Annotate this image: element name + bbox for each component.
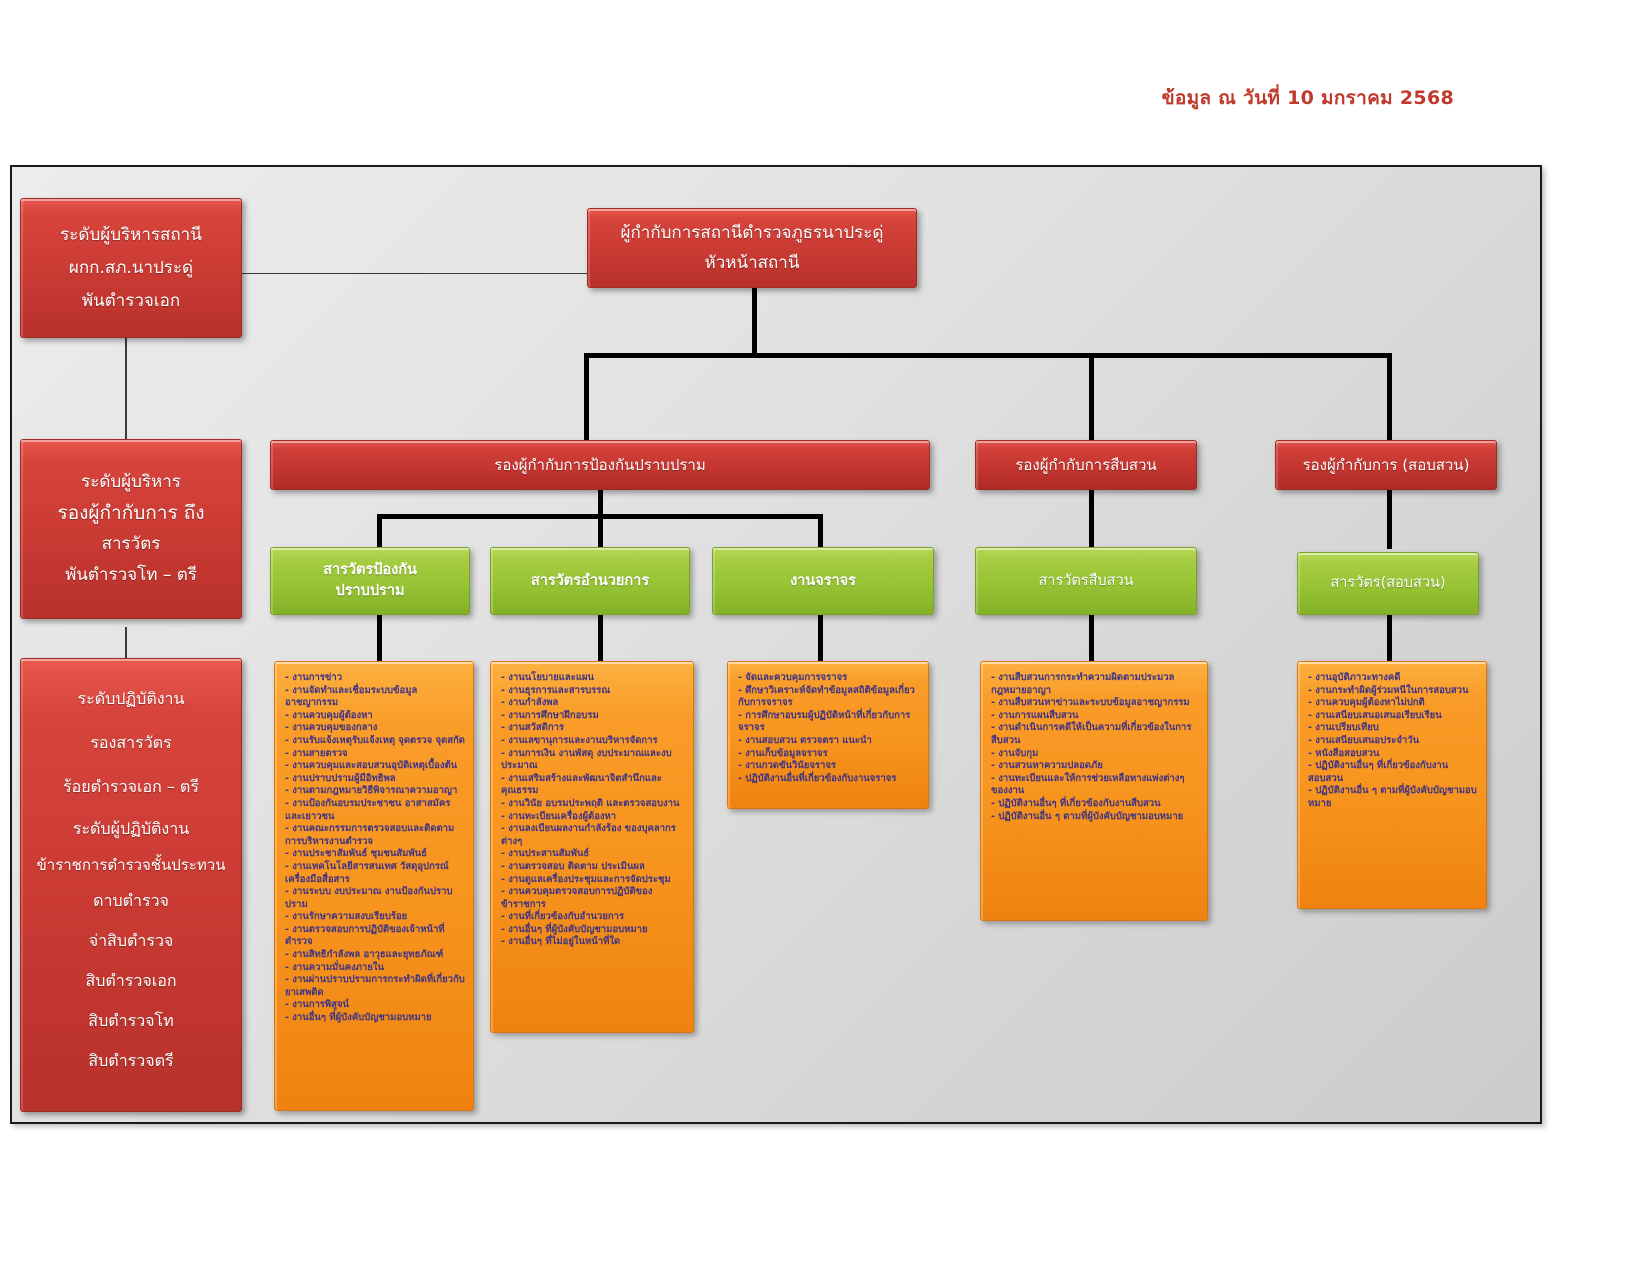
duty-item: - ศึกษาวิเคราะห์จัดทำข้อมูลสถิติข้อมูลเก… — [738, 685, 920, 710]
unit-label: งานจราจร — [713, 571, 933, 592]
duty-item: - งานสอบสวน ตรวจตรา แนะนำ — [738, 735, 920, 748]
duty-item: - งานธุรการและสารบรรณ — [501, 685, 685, 698]
duty-item: - การศึกษาอบรมผู้ปฏิบัติหน้าที่เกี่ยวกับ… — [738, 710, 920, 735]
duty-item: - งานสวัสดิการ — [501, 722, 685, 735]
duty-item: - งานควบคุมผู้ต้องหาไม่ปกติ — [1308, 697, 1478, 710]
level-line: ระดับผู้บริหาร — [21, 467, 241, 498]
level-line: สิบตำรวจตรี — [27, 1041, 235, 1081]
connector-investigation-down — [1089, 489, 1094, 549]
duty-item: - งานป้องกันอบรมประชาชน อาสาสมัครและเยาว… — [285, 798, 465, 823]
duty-item: - งานควบคุมของกลาง — [285, 722, 465, 735]
duty-item: - งานดำเนินการคดีให้เป็นความที่เกี่ยวข้อ… — [991, 722, 1199, 747]
level-line: สิบตำรวจโท — [27, 1001, 235, 1041]
connector-unit4-to-duties — [1089, 614, 1094, 662]
unit-box-traffic[interactable]: งานจราจร — [712, 547, 934, 615]
duty-box-admin[interactable]: - งานนโยบายและแผน- งานธุรการและสารบรรณ- … — [490, 661, 694, 1033]
station-chief-subtitle: หัวหน้าสถานี — [588, 248, 916, 278]
duty-item: - งานการข่าว — [285, 672, 465, 685]
connector-prevention-unit-2 — [598, 514, 603, 549]
station-chief-box[interactable]: ผู้กำกับการสถานีตำรวจภูธรนาประดู่ หัวหน้… — [587, 208, 917, 288]
duty-item: - งานการศึกษาฝึกอบรม — [501, 710, 685, 723]
duty-item: - งานปราบปรามผู้มีอิทธิพล — [285, 773, 465, 786]
connector-bus-to-deputy-2 — [1089, 353, 1094, 440]
level-line: สิบตำรวจเอก — [27, 961, 235, 1001]
duty-item: - งานอื่นๆ ที่ไม่อยู่ในหน้าที่ใด — [501, 936, 685, 949]
connector-prevention-unit-3 — [818, 514, 823, 549]
level-line: ดาบตำรวจ — [27, 881, 235, 921]
duty-item: - งานระบบ งบประมาณ งานป้องกันปราบปราม — [285, 886, 465, 911]
connector-unit5-to-duties — [1387, 614, 1392, 662]
connector-main-bus — [584, 353, 1392, 358]
level-line: สารวัตร — [21, 529, 241, 560]
duty-item: - งานกำลังพล — [501, 697, 685, 710]
duty-item: - งานควบคุมและสอบสวนอุบัติเหตุเบื้องต้น — [285, 760, 465, 773]
level-line: ร้อยตำรวจเอก – ตรี — [27, 765, 235, 809]
connector-unit1-to-duties — [377, 614, 382, 662]
duty-item: - จัดและควบคุมการจราจร — [738, 672, 920, 685]
duty-item: - งานนโยบายและแผน — [501, 672, 685, 685]
duty-item: - งานรับแจ้งเหตุรับแจ้งเหตุ จุดตรวจ จุดส… — [285, 735, 465, 748]
unit-label: สารวัตรสืบสวน — [976, 571, 1196, 592]
duty-item: - งานดูแลเครื่องประชุมและการจัดประชุม — [501, 874, 685, 887]
duty-item: - งานตามกฎหมายวิธีพิจารณาความอาญา — [285, 785, 465, 798]
deputy-label: รองผู้กำกับการป้องกันปราบปราม — [271, 455, 929, 475]
duty-item: - งานสายตรวจ — [285, 748, 465, 761]
duty-item: - งานจัดทำและเชื่อมระบบข้อมูลอาชญากรรม — [285, 685, 465, 710]
connector-unit2-to-duties — [598, 614, 603, 662]
level-line: ระดับผู้ปฏิบัติงาน — [27, 809, 235, 849]
duty-box-prevention[interactable]: - งานการข่าว- งานจัดทำและเชื่อมระบบข้อมู… — [274, 661, 474, 1111]
duty-item: - งานประสานสัมพันธ์ — [501, 848, 685, 861]
duty-item: - งานสืบสวนหาข่าวและระบบข้อมูลอาชญากรรม — [991, 697, 1199, 710]
duty-item: - งานเสนียบเสนอเสนอเรียบเรียน — [1308, 710, 1478, 723]
deputy-box-investigation[interactable]: รองผู้กำกับการสืบสวน — [975, 440, 1197, 490]
level-line: ระดับผู้บริหารสถานี — [21, 219, 241, 252]
duty-item: - งานอื่นๆ ที่ผู้บังคับบัญชามอบหมาย — [285, 1012, 465, 1025]
duty-item: - งานตรวจสอบ ติดตาม ประเมินผล — [501, 861, 685, 874]
duty-item: - งานควบคุมผู้ต้องหา — [285, 710, 465, 723]
duty-item: - ปฏิบัติงานอื่น ๆ ตามที่ผู้บังคับบัญชาม… — [1308, 785, 1478, 810]
duty-item: - งานกระทำผิดผู้ร่วมหนีในการสอบสวน — [1308, 685, 1478, 698]
level-box-operational[interactable]: ระดับปฏิบัติงาน รองสารวัตร ร้อยตำรวจเอก … — [20, 658, 242, 1112]
connector-head-down — [752, 285, 757, 353]
level-line: ข้าราชการตำรวจชั้นประทวน — [27, 849, 235, 881]
duty-item: - งานที่เกี่ยวข้องกับอำนวยการ — [501, 911, 685, 924]
duty-item: - งานเสนียบเสนอประจำวัน — [1308, 735, 1478, 748]
duty-item: - งานความมั่นคงภายใน — [285, 962, 465, 975]
connector-inquiry-down — [1387, 489, 1392, 549]
duty-item: - งานประชาสัมพันธ์ ชุมชนสัมพันธ์ — [285, 848, 465, 861]
deputy-label: รองผู้กำกับการสืบสวน — [976, 455, 1196, 475]
data-as-of-date: ข้อมูล ณ วันที่ 10 มกราคม 2568 — [1162, 83, 1454, 113]
deputy-box-prevention[interactable]: รองผู้กำกับการป้องกันปราบปราม — [270, 440, 930, 490]
unit-label: สารวัตรป้องกัน — [271, 560, 469, 581]
duty-item: - งานสวนหาความปลอดภัย — [991, 760, 1199, 773]
deputy-label: รองผู้กำกับการ (สอบสวน) — [1276, 455, 1496, 475]
duty-item: - ปฏิบัติงานอื่นๆ ที่เกี่ยวข้องกับงานสืบ… — [991, 798, 1199, 811]
duty-box-inquiry[interactable]: - งานอุบัติภาวะทางคดี- งานกระทำผิดผู้ร่ว… — [1297, 661, 1487, 909]
unit-box-prevention[interactable]: สารวัตรป้องกัน ปราบปราม — [270, 547, 470, 615]
duty-item: - งานการแผนสืบสวน — [991, 710, 1199, 723]
deputy-box-inquiry[interactable]: รองผู้กำกับการ (สอบสวน) — [1275, 440, 1497, 490]
connector-prevention-unit-1 — [377, 514, 382, 549]
duty-item: - งานวินัย อบรมประพฤติ และตรวจสอบงาน — [501, 798, 685, 811]
unit-label: สารวัตรอำนวยการ — [491, 571, 689, 592]
level-line: ระดับปฏิบัติงาน — [27, 677, 235, 721]
duty-item: - งานอื่นๆ ที่ผู้บังคับบัญชามอบหมาย — [501, 924, 685, 937]
duty-item: - งานลงเบียนผลงานกำลังร้อง ของบุคลากรต่า… — [501, 823, 685, 848]
unit-box-admin[interactable]: สารวัตรอำนวยการ — [490, 547, 690, 615]
duty-item: - งานเก็บข้อมูลจราจร — [738, 748, 920, 761]
connector-unit3-to-duties — [818, 614, 823, 662]
duty-item: - งานเลขานุการและงานบริหารจัดการ — [501, 735, 685, 748]
duty-box-traffic[interactable]: - จัดและควบคุมการจราจร- ศึกษาวิเคราะห์จั… — [727, 661, 929, 809]
level-line: พันตำรวจโท – ตรี — [21, 560, 241, 591]
level-line: พันตำรวจเอก — [21, 285, 241, 318]
level-line: รองผู้กำกับการ ถึง — [21, 498, 241, 529]
level-box-executive-station[interactable]: ระดับผู้บริหารสถานี ผกก.สภ.นาประดู่ พันต… — [20, 198, 242, 338]
duty-item: - ปฏิบัติงานอื่นๆ ที่เกี่ยวข้องกับงานสอบ… — [1308, 760, 1478, 785]
duty-item: - งานสิทธิกำลังพล อาวุธและยุทธภัณฑ์ — [285, 949, 465, 962]
station-chief-title: ผู้กำกับการสถานีตำรวจภูธรนาประดู่ — [588, 218, 916, 248]
duty-item: - งานควบคุมตรวจสอบการปฏิบัติของข้าราชการ — [501, 886, 685, 911]
unit-box-investigation[interactable]: สารวัตรสืบสวน — [975, 547, 1197, 615]
duty-item: - งานตรวจสอบการปฏิบัติของเจ้าหน้าที่ตำรว… — [285, 924, 465, 949]
duty-item: - งานรักษาความสงบเรียบร้อย — [285, 911, 465, 924]
duty-item: - งานเปรียบเทียบ — [1308, 722, 1478, 735]
unit-label: สารวัตร(สอบสวน) — [1298, 573, 1478, 594]
connector-bus-to-deputy-3 — [1387, 353, 1392, 440]
connector-prevention-down — [598, 489, 603, 517]
level-line: รองสารวัตร — [27, 721, 235, 765]
duty-item: - หนังสือสอบสวน — [1308, 748, 1478, 761]
org-chart-frame: ระดับผู้บริหารสถานี ผกก.สภ.นาประดู่ พันต… — [10, 165, 1542, 1124]
duty-item: - ปฏิบัติงานอื่นที่เกี่ยวข้องกับงานจราจร — [738, 773, 920, 786]
duty-item: - งานเทคโนโลยีสารสนเทศ วัสดุอุปกรณ์เครื่… — [285, 861, 465, 886]
duty-item: - ปฏิบัติงานอื่น ๆ ตามที่ผู้บังคับบัญชาม… — [991, 811, 1199, 824]
level-line: จ่าสิบตำรวจ — [27, 921, 235, 961]
duty-item: - งานสืบสวนการกระทำความผิดตามประมวลกฎหมา… — [991, 672, 1199, 697]
duty-item: - งานอุบัติภาวะทางคดี — [1308, 672, 1478, 685]
connector-exec-down-2 — [125, 627, 127, 659]
duty-item: - งานผ่านปราบปรามการกระทำผิดที่เกี่ยวกับ… — [285, 974, 465, 999]
level-line: ผกก.สภ.นาประดู่ — [21, 252, 241, 285]
duty-box-investigation[interactable]: - งานสืบสวนการกระทำความผิดตามประมวลกฎหมา… — [980, 661, 1208, 921]
connector-bus-to-deputy-1 — [584, 353, 589, 440]
duty-item: - งานทะเบียนและให้การช่วยเหลือทางแพ่งต่า… — [991, 773, 1199, 798]
unit-label: ปราบปราม — [271, 581, 469, 602]
duty-item: - งานเสริมสร้างและพัฒนาจิตสำนึกและคุณธรร… — [501, 773, 685, 798]
level-box-executive-mid[interactable]: ระดับผู้บริหาร รองผู้กำกับการ ถึง สารวัต… — [20, 439, 242, 619]
duty-item: - งานจับกุม — [991, 748, 1199, 761]
unit-box-inquiry[interactable]: สารวัตร(สอบสวน) — [1297, 552, 1479, 615]
duty-item: - งานคณะกรรมการตรวจสอบและติดตามการบริหาร… — [285, 823, 465, 848]
duty-item: - งานทะเบียนเครื่องผู้ต้องหา — [501, 811, 685, 824]
duty-item: - งานการเงิน งานพัสดุ งบประมาณและงบประมา… — [501, 748, 685, 773]
duty-item: - งานกวดขันวินัยจราจร — [738, 760, 920, 773]
duty-item: - งานการพิสูจน์ — [285, 999, 465, 1012]
